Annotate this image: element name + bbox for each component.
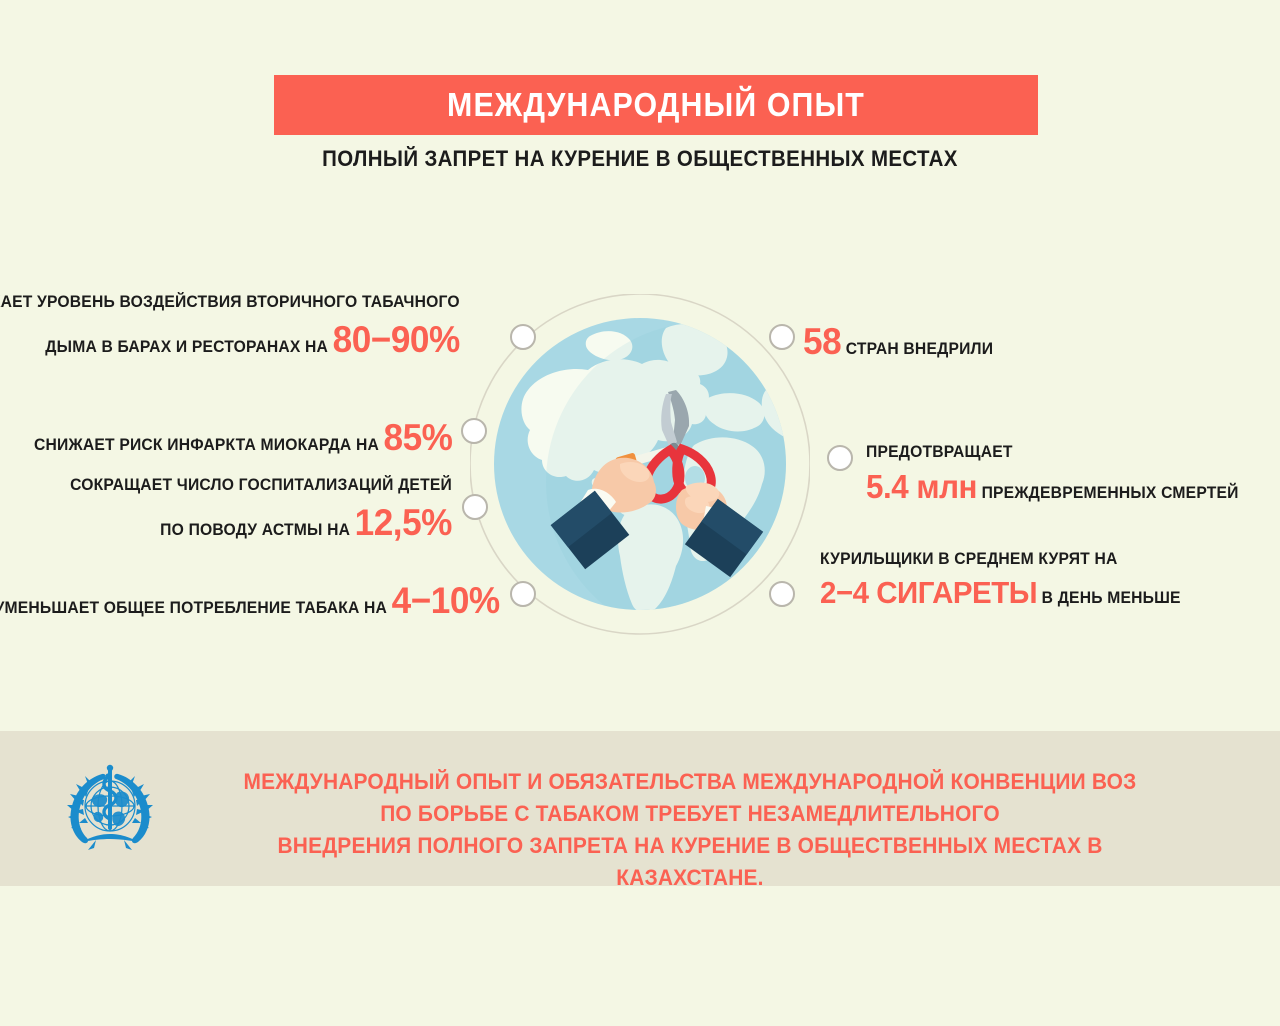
who-emblem-icon	[58, 762, 162, 856]
fact-countries-implemented: 58 СТРАН ВНЕДРИЛИ	[803, 316, 993, 369]
fact-premature-deaths: ПРЕДОТВРАЩАЕТ 5.4 млн ПРЕЖДЕВРЕМЕННЫХ СМ…	[866, 441, 1239, 511]
fact-cigarettes-per-day-line1: КУРИЛЬЩИКИ В СРЕДНЕМ КУРЯТ НА	[820, 548, 1181, 571]
fact-heart-attack-risk: СНИЖАЕТ РИСК ИНФАРКТА МИОКАРДА НА 85%	[34, 412, 452, 465]
fact-secondhand-smoke: СНИЖАЕТ УРОВЕНЬ ВОЗДЕЙСТВИЯ ВТОРИЧНОГО Т…	[0, 291, 460, 367]
fact-heart-attack-risk-value: 85%	[383, 417, 452, 458]
connector-dot-child-asthma	[462, 494, 488, 520]
connector-dot-tobacco-consumption	[510, 581, 536, 607]
fact-premature-deaths-line1: ПРЕДОТВРАЩАЕТ	[866, 441, 1239, 464]
fact-child-asthma-value: 12,5%	[355, 502, 452, 543]
fact-cigarettes-per-day-value: 2−4 СИГАРЕТЫ	[820, 575, 1037, 610]
banner-line-2: ПО БОРЬБЕ С ТАБАКОМ ТРЕБУЕТ НЕЗАМЕДЛИТЕЛ…	[216, 798, 1165, 830]
fact-heart-attack-risk-label: СНИЖАЕТ РИСК ИНФАРКТА МИОКАРДА НА	[34, 436, 379, 454]
fact-tobacco-consumption-label: УМЕНЬШАЕТ ОБЩЕЕ ПОТРЕБЛЕНИЕ ТАБАКА НА	[0, 599, 387, 617]
connector-dot-secondhand-smoke	[510, 324, 536, 350]
banner-line-1: МЕЖДУНАРОДНЫЙ ОПЫТ И ОБЯЗАТЕЛЬСТВА МЕЖДУ…	[216, 766, 1165, 798]
fact-secondhand-smoke-line1: СНИЖАЕТ УРОВЕНЬ ВОЗДЕЙСТВИЯ ВТОРИЧНОГО Т…	[0, 291, 460, 314]
fact-tobacco-consumption: УМЕНЬШАЕТ ОБЩЕЕ ПОТРЕБЛЕНИЕ ТАБАКА НА 4−…	[0, 575, 500, 628]
fact-child-asthma-line1: СОКРАЩАЕТ ЧИСЛО ГОСПИТАЛИЗАЦИЙ ДЕТЕЙ	[70, 474, 452, 497]
connector-dot-countries	[769, 324, 795, 350]
connector-dot-heart-attack	[461, 418, 487, 444]
banner-line-3: ВНЕДРЕНИЯ ПОЛНОГО ЗАПРЕТА НА КУРЕНИЕ В О…	[216, 830, 1165, 894]
page-subtitle: ПОЛНЫЙ ЗАПРЕТ НА КУРЕНИЕ В ОБЩЕСТВЕННЫХ …	[45, 146, 1235, 172]
fact-child-asthma-line2: ПО ПОВОДУ АСТМЫ НА	[160, 521, 350, 539]
fact-secondhand-smoke-value: 80−90%	[333, 319, 460, 360]
infographic-root: МЕЖДУНАРОДНЫЙ ОПЫТ ПОЛНЫЙ ЗАПРЕТ НА КУРЕ…	[0, 0, 1280, 1026]
page-title: МЕЖДУНАРОДНЫЙ ОПЫТ	[305, 75, 1008, 135]
banner-message: МЕЖДУНАРОДНЫЙ ОПЫТ И ОБЯЗАТЕЛЬСТВА МЕЖДУ…	[216, 766, 1165, 894]
fact-premature-deaths-label: ПРЕЖДЕВРЕМЕННЫХ СМЕРТЕЙ	[982, 484, 1239, 502]
fact-tobacco-consumption-value: 4−10%	[392, 580, 500, 621]
fact-countries-implemented-label: СТРАН ВНЕДРИЛИ	[846, 340, 993, 358]
fact-premature-deaths-value: 5.4 млн	[866, 468, 977, 505]
fact-countries-implemented-value: 58	[803, 321, 841, 362]
title-banner: МЕЖДУНАРОДНЫЙ ОПЫТ	[274, 75, 1038, 135]
fact-cigarettes-per-day: КУРИЛЬЩИКИ В СРЕДНЕМ КУРЯТ НА 2−4 СИГАРЕ…	[820, 548, 1181, 615]
fact-child-asthma: СОКРАЩАЕТ ЧИСЛО ГОСПИТАЛИЗАЦИЙ ДЕТЕЙ ПО …	[70, 474, 452, 550]
fact-cigarettes-per-day-label: В ДЕНЬ МЕНЬШЕ	[1042, 589, 1181, 607]
connector-dot-premature-deaths	[827, 445, 853, 471]
connector-dot-cigarettes-per-day	[769, 581, 795, 607]
fact-secondhand-smoke-line2: ДЫМА В БАРАХ И РЕСТОРАНАХ НА	[46, 338, 329, 356]
